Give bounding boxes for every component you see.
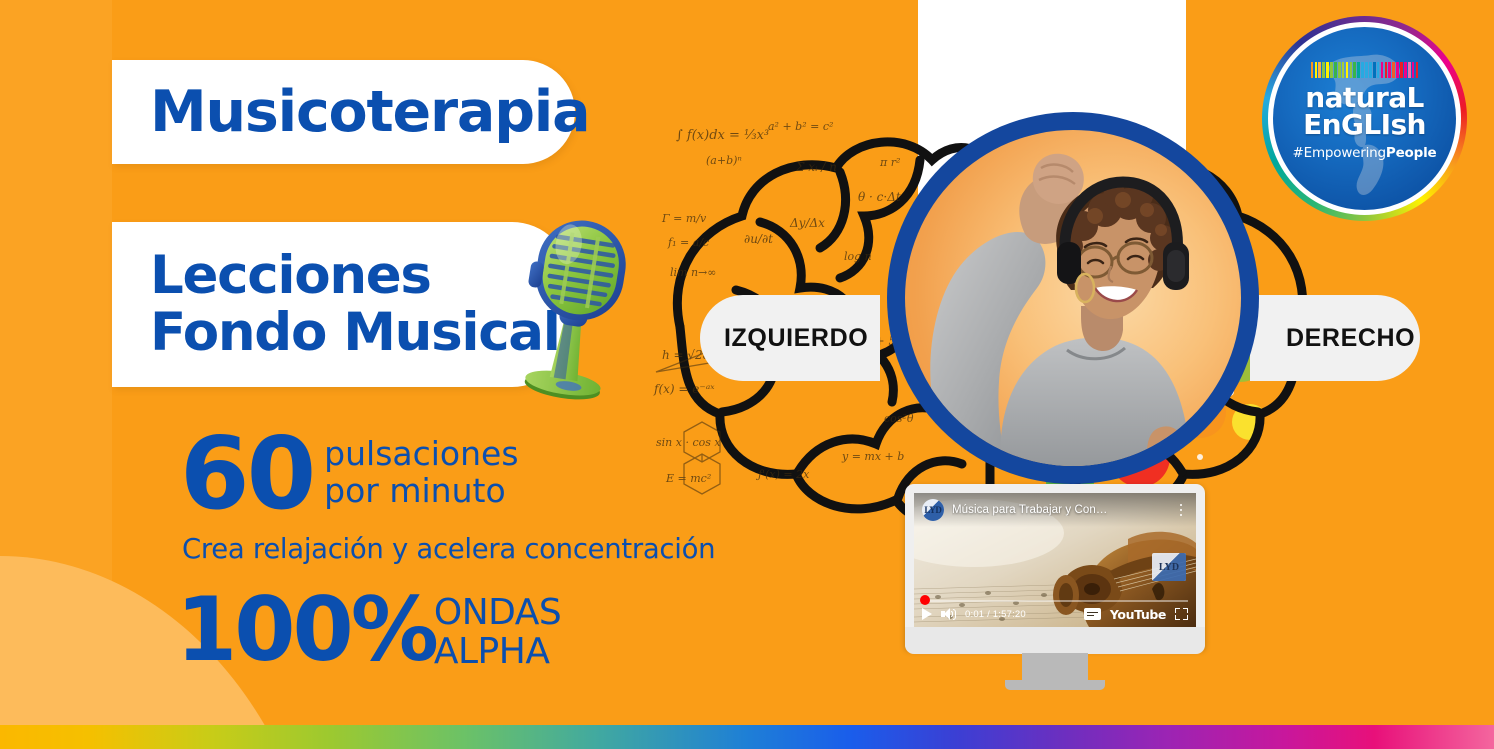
barcode-stripe (1408, 62, 1411, 78)
video-top-bar: LYD Música para Trabajar y Con… (914, 493, 1196, 527)
progress-track[interactable] (922, 600, 1188, 602)
monitor-chin (905, 627, 1205, 654)
computer-monitor: LYD Música para Trabajar y Con… LYD (905, 484, 1205, 684)
barcode-stripe (1373, 62, 1376, 78)
youtube-player[interactable]: LYD Música para Trabajar y Con… LYD (914, 493, 1196, 627)
barcode-stripe (1381, 62, 1384, 78)
video-title[interactable]: Música para Trabajar y Con… (952, 504, 1166, 516)
label-hemisferio-izquierdo: IZQUIERDO (700, 295, 880, 381)
barcode-stripe (1404, 62, 1407, 78)
channel-avatar-text: LYD (924, 505, 941, 515)
barcode-stripe (1338, 62, 1341, 78)
bpm-label-line-2: por minuto (324, 473, 518, 510)
barcode-stripe (1385, 62, 1388, 78)
channel-avatar[interactable]: LYD (922, 499, 944, 521)
barcode-stripe (1322, 62, 1325, 78)
barcode-stripe (1412, 62, 1415, 78)
barcode-stripe (1357, 62, 1360, 78)
watermark-text: LYD (1159, 562, 1179, 573)
alpha-waves-stat: 100% ONDAS ALPHA (176, 588, 561, 672)
barcode-stripe (1400, 62, 1403, 78)
barcode-stripe (1365, 62, 1368, 78)
bpm-label-line-1: pulsaciones (324, 436, 518, 473)
kebab-menu-icon[interactable] (1174, 501, 1188, 519)
barcode-stripe (1396, 62, 1399, 78)
logo-name-line-2: EnGLIsh (1303, 112, 1426, 139)
logo-tagline-bold: People (1386, 145, 1437, 161)
barcode-stripe (1334, 62, 1337, 78)
monitor-stand-foot (1005, 680, 1105, 690)
fullscreen-icon[interactable] (1175, 608, 1188, 620)
microphone-icon (497, 212, 652, 402)
volume-cone-shape (944, 608, 950, 620)
volume-wave-2 (953, 609, 957, 620)
rainbow-footer-bar (0, 725, 1494, 749)
logo-wordmark: naturaL EnGLIsh (1303, 85, 1426, 139)
logo-barcode (1311, 62, 1419, 78)
poster-canvas: ∫ f(x)dx = ⅓x³ a² + b² = c² (a+b)ⁿ Σ xᵢ … (0, 0, 1494, 749)
youtube-wordmark[interactable]: YouTube (1110, 607, 1166, 622)
volume-icon[interactable] (941, 608, 956, 621)
barcode-stripe (1315, 62, 1318, 78)
alpha-label: ONDAS ALPHA (434, 594, 561, 672)
barcode-stripe (1392, 62, 1395, 78)
bpm-label: pulsaciones por minuto (324, 436, 518, 510)
closed-captions-icon[interactable] (1084, 608, 1101, 620)
barcode-stripe (1326, 62, 1329, 78)
tagline-text: Crea relajación y acelera concentración (182, 533, 715, 565)
logo-tagline-hash: #Empowering (1293, 145, 1386, 161)
barcode-stripe (1369, 62, 1372, 78)
barcode-stripe (1342, 62, 1345, 78)
alpha-label-line-2: ALPHA (434, 633, 561, 672)
play-icon[interactable] (922, 608, 932, 620)
logo-tagline: #EmpoweringPeople (1293, 145, 1437, 161)
time-display: 0:01 / 1:57:20 (965, 609, 1026, 620)
page-title: Musicoterapia (150, 84, 589, 141)
barcode-stripe (1361, 62, 1364, 78)
person-photo (905, 130, 1241, 466)
alpha-percent: 100% (176, 588, 436, 672)
label-izquierdo-text: IZQUIERDO (724, 324, 868, 353)
person-photo-circle (887, 112, 1259, 484)
barcode-stripe (1330, 62, 1333, 78)
channel-watermark[interactable]: LYD (1152, 553, 1186, 581)
bpm-number: 60 (180, 428, 313, 520)
barcode-stripe (1318, 62, 1321, 78)
barcode-stripe (1346, 62, 1349, 78)
monitor-screen: LYD Música para Trabajar y Con… LYD (914, 493, 1196, 627)
barcode-stripe (1350, 62, 1353, 78)
logo-blue-disc: naturaL EnGLIsh #EmpoweringPeople (1273, 27, 1456, 210)
barcode-stripe (1388, 62, 1391, 78)
barcode-stripe (1353, 62, 1356, 78)
label-derecho-text: DERECHO (1286, 324, 1415, 353)
alpha-label-line-1: ONDAS (434, 594, 561, 633)
barcode-stripe (1311, 62, 1314, 78)
natural-english-logo[interactable]: naturaL EnGLIsh #EmpoweringPeople (1262, 16, 1467, 221)
barcode-stripe (1377, 62, 1380, 78)
title-pill: Musicoterapia (112, 60, 575, 164)
bpm-stat: 60 pulsaciones por minuto (180, 428, 519, 520)
label-hemisferio-derecho: DERECHO (1250, 295, 1420, 381)
logo-white-ring: naturaL EnGLIsh #EmpoweringPeople (1268, 22, 1461, 215)
barcode-stripe (1416, 62, 1419, 78)
player-controls: 0:01 / 1:57:20 YouTube (914, 603, 1196, 625)
